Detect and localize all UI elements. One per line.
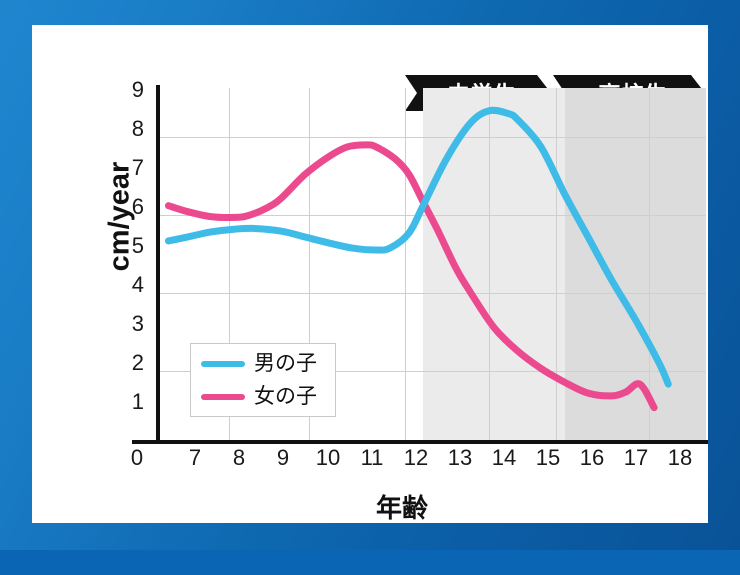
y-tick-5: 5 (118, 235, 144, 257)
x-axis-tick-labels: 0 7 8 9 10 11 12 13 14 15 16 17 18 (32, 446, 740, 478)
x-tick-12: 12 (396, 446, 436, 470)
x-tick-18: 18 (660, 446, 700, 470)
y-tick-7: 7 (118, 157, 144, 179)
x-tick-10: 10 (308, 446, 348, 470)
x-axis-title: 年齢 (32, 488, 740, 525)
x-tick-8: 8 (219, 446, 259, 470)
y-axis-line (156, 85, 160, 444)
y-tick-3: 3 (118, 313, 144, 335)
y-tick-8: 8 (118, 118, 144, 140)
x-tick-16: 16 (572, 446, 612, 470)
legend-swatch-boys (201, 361, 245, 367)
y-tick-1: 1 (118, 391, 144, 413)
x-tick-14: 14 (484, 446, 524, 470)
x-tick-17: 17 (616, 446, 656, 470)
x-tick-13: 13 (440, 446, 480, 470)
y-tick-4: 4 (118, 274, 144, 296)
plot-area: 男の子 女の子 (159, 88, 706, 441)
y-tick-6: 6 (118, 196, 144, 218)
x-tick-7: 7 (175, 446, 215, 470)
legend-label-boys: 男の子 (254, 353, 317, 374)
x-tick-9: 9 (263, 446, 303, 470)
chart-page: 中学生 高校生 cm/year 9 8 7 6 5 4 3 2 1 (0, 0, 740, 550)
legend-label-girls: 女の子 (254, 386, 317, 407)
x-axis-line (132, 440, 708, 444)
x-tick-11: 11 (352, 446, 392, 470)
legend: 男の子 女の子 (190, 343, 336, 417)
y-tick-9: 9 (118, 79, 144, 101)
chart-card: 中学生 高校生 cm/year 9 8 7 6 5 4 3 2 1 (32, 25, 708, 523)
legend-swatch-girls (201, 394, 245, 400)
legend-item-boys: 男の子 (201, 349, 335, 378)
x-tick-15: 15 (528, 446, 568, 470)
legend-item-girls: 女の子 (201, 382, 335, 411)
x-tick-0: 0 (117, 446, 157, 470)
y-tick-2: 2 (118, 352, 144, 374)
